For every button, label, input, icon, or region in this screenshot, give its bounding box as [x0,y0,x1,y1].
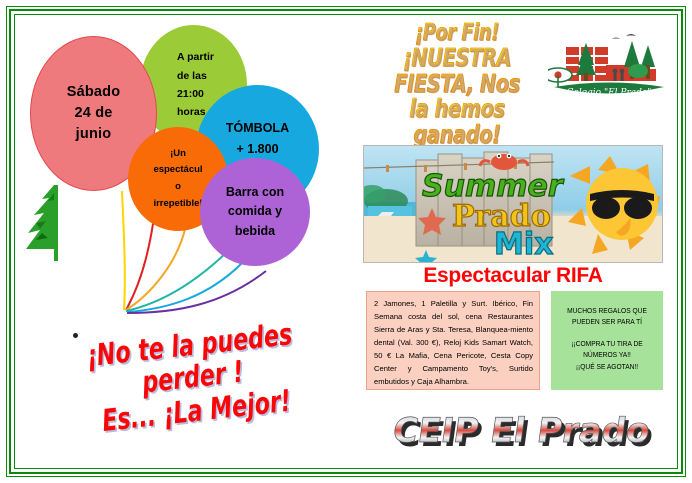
balloon-barra-text: Barra con comida y bebida [220,183,290,241]
headline-line2: ¡NUESTRA FIESTA, Nos [375,45,539,96]
balloon-espectaculo-line3: o [153,179,202,196]
ceip-el-prado-wordart: CEIP El Prado CEIP El Prado [380,410,670,462]
promo-line1: MUCHOS REGALOS QUE [562,305,652,316]
balloon-sabado-line3: junio [67,124,121,145]
balloon-barra-line2: comida y [226,202,284,221]
prize-list-text: 2 Jamones, 1 Paletilla y Surt. Ibérico, … [374,297,533,388]
balloon-tombola-line1: TÓMBOLA [226,118,289,139]
pine-tree-icon [24,183,70,263]
promo-box: MUCHOS REGALOS QUE PUEDEN SER PARA TÍ ¡¡… [551,291,663,390]
balloon-espectaculo-line2: espectácul [153,162,202,179]
balloon-espectaculo-text: ¡Un espectácul o irrepetible! [147,146,208,213]
balloon-espectaculo-line4: irrepetible! [153,196,202,213]
balloon-horario-line3: 21:00 [177,85,214,103]
ceip-wordart-text: CEIP El Prado [390,411,652,451]
balloon-barra-line1: Barra con [226,183,284,202]
balloon-barra: Barra con comida y bebida [200,158,310,266]
promo-line3: ¡¡COMPRA TU TIRA DE [562,338,652,349]
balloon-horario-line1: A partir [177,48,214,66]
headline-line1: ¡Por Fin! [375,22,539,45]
balloon-horario-line2: de las [177,67,214,85]
promo-line4: NÚMEROS YA!! [562,349,652,360]
colegio-el-prado-logo: Colegio "El Prado" [548,27,670,105]
promo-line5: ¡¡QUÉ SE AGOTAN!! [562,361,652,372]
balloon-sabado-line2: 24 de [67,103,121,124]
poster-canvas: Sábado 24 de junio A partir de las 21:00… [0,0,692,483]
headline-line3: la hemos ganado! [375,96,539,147]
balloon-tombola-line2: + 1.800 [226,139,289,160]
slogan-bullet-dot [73,333,78,338]
promo-line2: PUEDEN SER PARA TÍ [562,316,652,327]
balloon-sabado-line1: Sábado [67,82,121,103]
logo-caption: Colegio "El Prado" [567,88,652,98]
balloon-barra-line3: bebida [226,222,284,241]
headline-wordart: ¡Por Fin! ¡NUESTRA FIESTA, Nos la hemos … [352,22,562,147]
balloon-sabado-text: Sábado 24 de junio [61,82,127,145]
rifa-heading: Espectacular RIFA [363,264,663,288]
balloon-espectaculo-line1: ¡Un [153,146,202,163]
banner-word-mix: Mix [494,227,554,262]
summer-prado-mix-banner: Summer Prado Mix [363,145,663,263]
prize-list-box: 2 Jamones, 1 Paletilla y Surt. Ibérico, … [366,291,540,390]
